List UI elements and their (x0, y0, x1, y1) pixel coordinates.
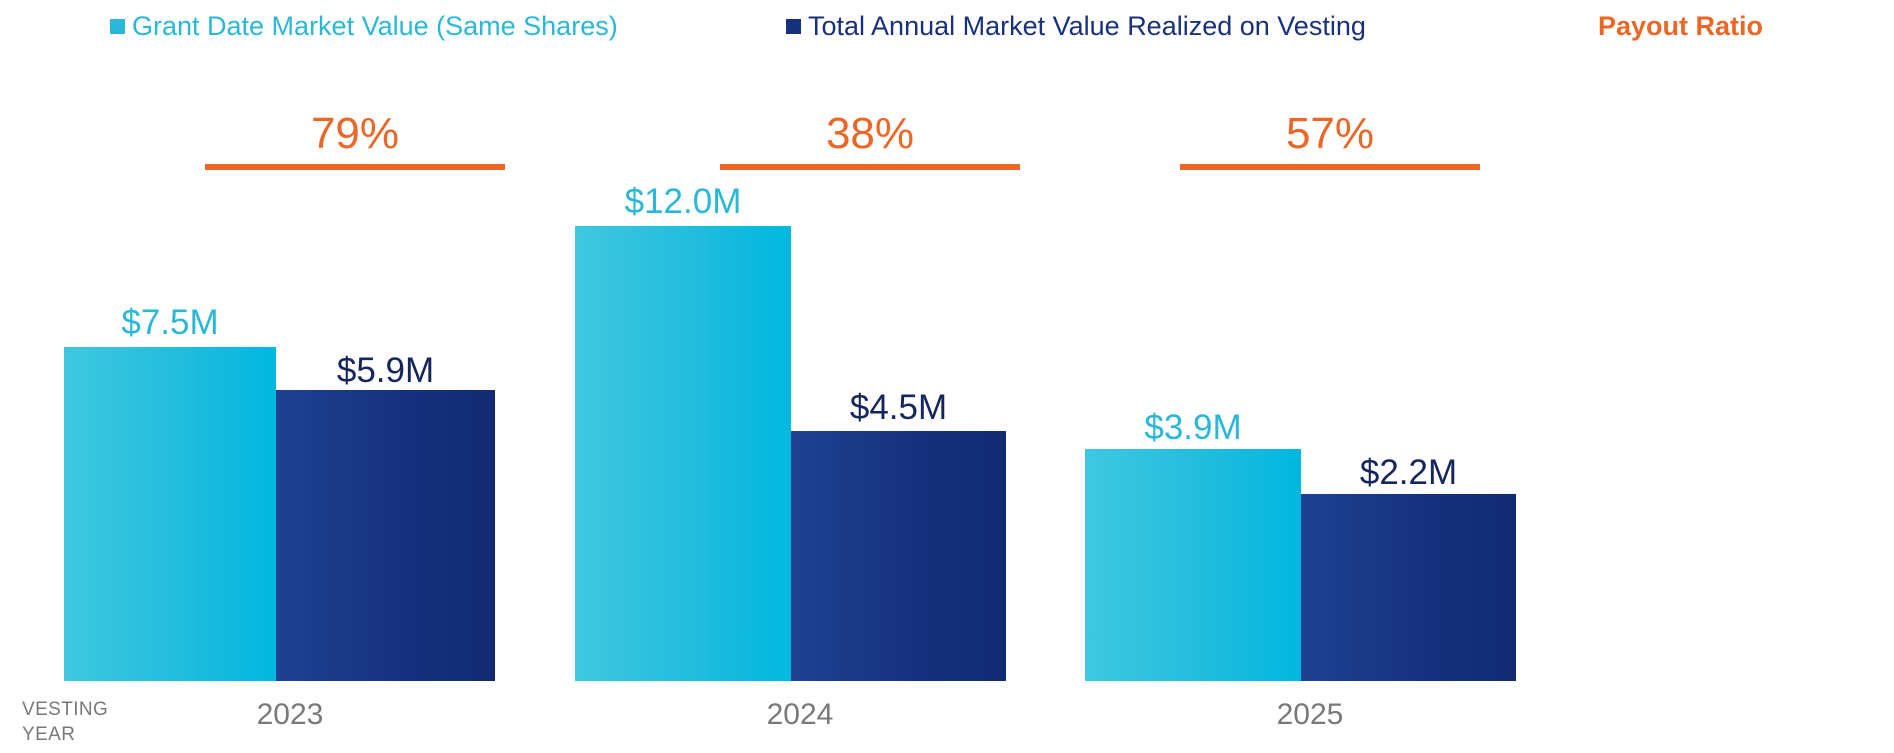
bar-grant-2025[interactable] (1085, 449, 1301, 681)
payout-ratio-rule-2023 (205, 164, 505, 170)
x-axis-tick-2023: 2023 (180, 700, 400, 730)
bar-grant-2023[interactable] (64, 347, 276, 681)
payout-ratio-rule-2025 (1180, 164, 1480, 170)
payout-ratio-value-2023: 79% (205, 112, 505, 156)
payout-ratio-rule-2024 (720, 164, 1020, 170)
x-axis-tick-2024: 2024 (680, 700, 920, 730)
payout-ratio-value-2024: 38% (720, 112, 1020, 156)
bar-label-realized-2025: $2.2M (1301, 455, 1516, 490)
bar-realized-2024[interactable] (791, 431, 1006, 681)
bar-label-grant-2024: $12.0M (573, 184, 793, 219)
payout-ratio-value-2025: 57% (1180, 112, 1480, 156)
bar-chart-plot-area: 79% $7.5M $5.9M 2023 38% $12.0M $4.5M 20… (0, 0, 1894, 753)
x-axis-tick-2025: 2025 (1190, 700, 1430, 730)
bar-label-grant-2025: $3.9M (1083, 410, 1303, 445)
bar-realized-2023[interactable] (276, 390, 495, 681)
bar-grant-2024[interactable] (575, 226, 791, 681)
bar-label-grant-2023: $7.5M (60, 305, 280, 340)
bar-label-realized-2024: $4.5M (791, 390, 1006, 425)
bar-group-2025: 57% $3.9M $2.2M 2025 (1020, 0, 1620, 753)
bar-label-realized-2023: $5.9M (276, 353, 495, 388)
x-axis-caption: VESTING YEAR (22, 697, 108, 747)
bar-realized-2025[interactable] (1301, 494, 1516, 681)
